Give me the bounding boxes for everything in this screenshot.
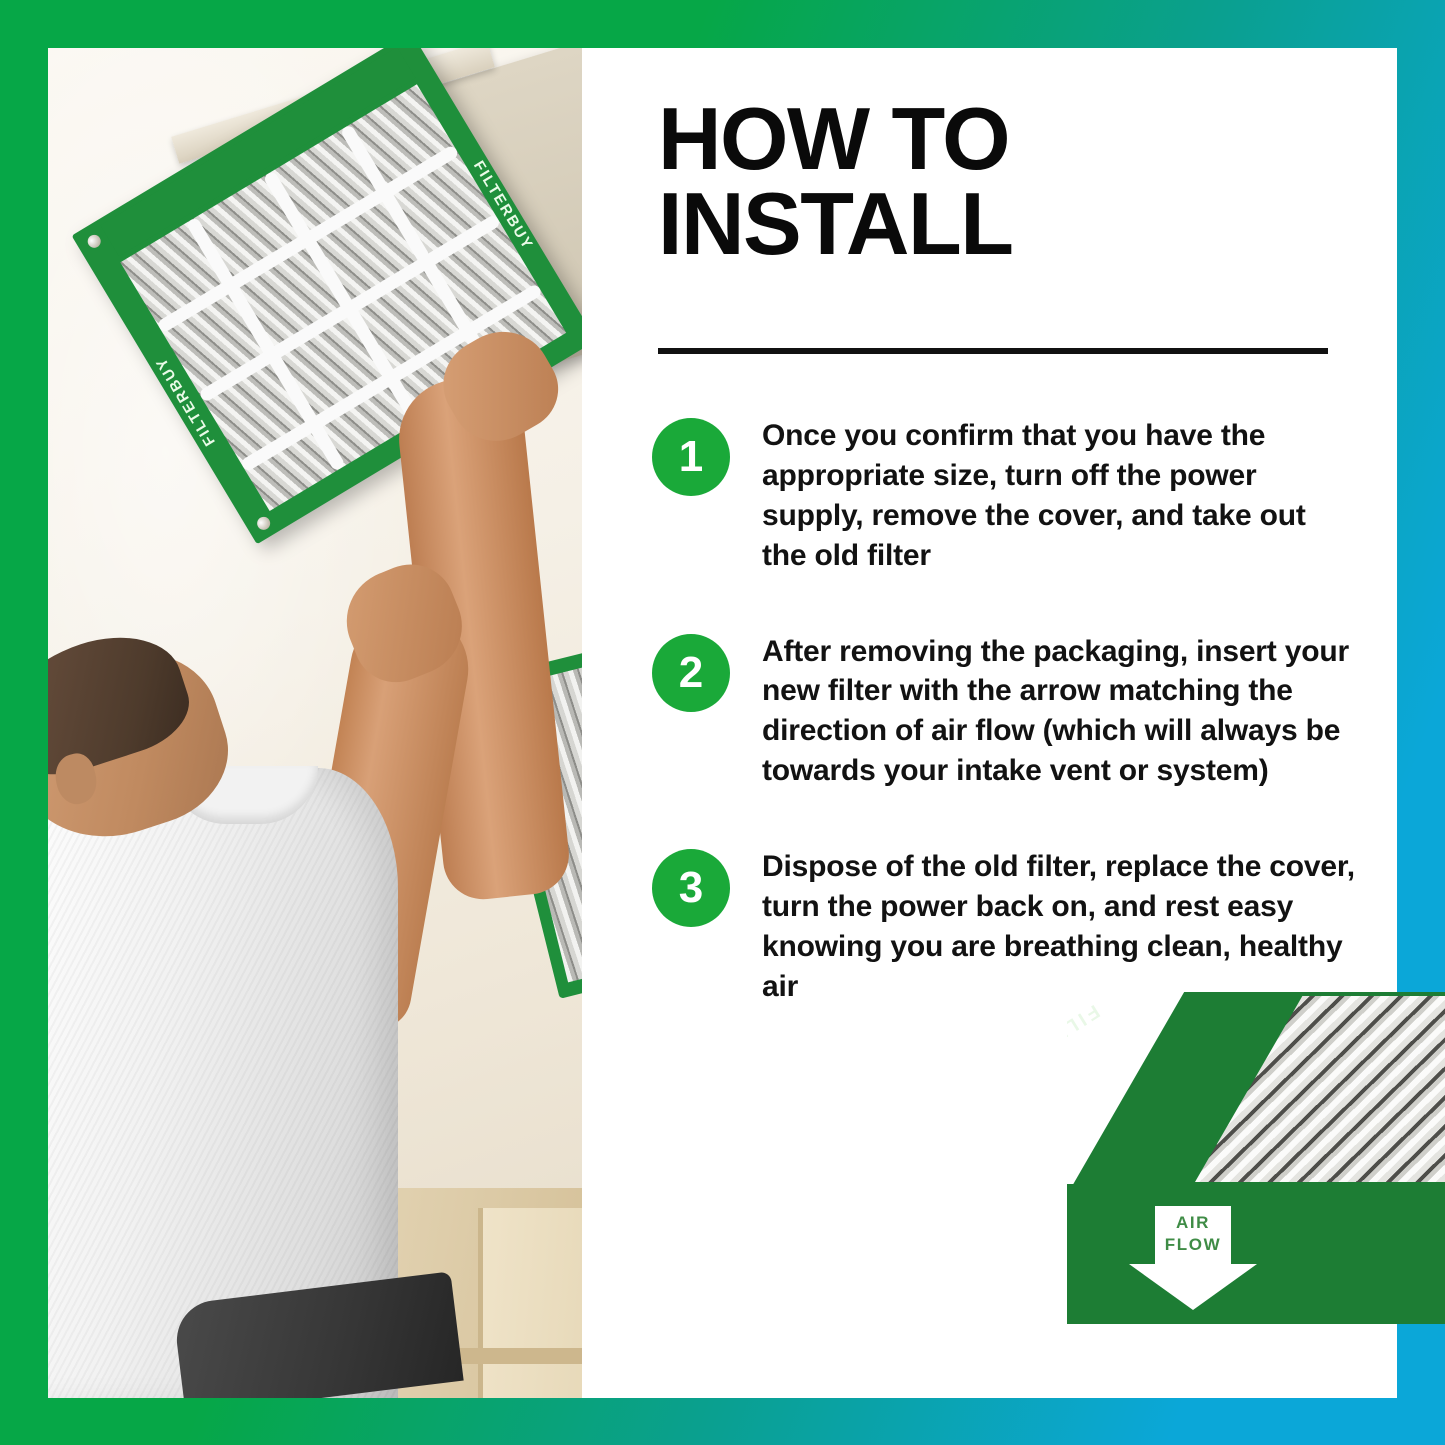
product-filter-image: FILTERBUY AIR FLOW <box>1067 992 1445 1350</box>
step-text-3: Dispose of the old filter, replace the c… <box>762 847 1356 1007</box>
title-line-1: HOW TO <box>658 96 1358 181</box>
step-number-badge-1: 1 <box>652 418 730 496</box>
step-item-2: 2 After removing the packaging, insert y… <box>652 632 1362 792</box>
installation-photo: FILTERBUY FILTERBUY <box>48 48 582 1398</box>
promo-graphic: FILTERBUY FILTERBUY HOW <box>0 0 1445 1445</box>
air-flow-label: AIR FLOW <box>1155 1212 1231 1256</box>
step-text-2: After removing the packaging, insert you… <box>762 632 1356 792</box>
step-number-badge-2: 2 <box>652 634 730 712</box>
title-line-2: INSTALL <box>658 181 1358 266</box>
page-title: HOW TO INSTALL <box>658 96 1358 267</box>
step-item-3: 3 Dispose of the old filter, replace the… <box>652 847 1362 1007</box>
air-flow-arrow-icon: AIR FLOW <box>1129 1206 1257 1310</box>
filter-brand-label: FILTERBUY <box>1067 999 1103 1092</box>
step-text-1: Once you confirm that you have the appro… <box>762 416 1356 576</box>
title-divider <box>658 348 1328 354</box>
step-item-1: 1 Once you confirm that you have the app… <box>652 416 1362 576</box>
air-flow-line-2: FLOW <box>1155 1234 1231 1256</box>
doorway <box>478 1208 582 1398</box>
steps-list: 1 Once you confirm that you have the app… <box>652 416 1362 1063</box>
vent-screw <box>85 232 103 250</box>
step-number-badge-3: 3 <box>652 849 730 927</box>
air-flow-line-1: AIR <box>1155 1212 1231 1234</box>
